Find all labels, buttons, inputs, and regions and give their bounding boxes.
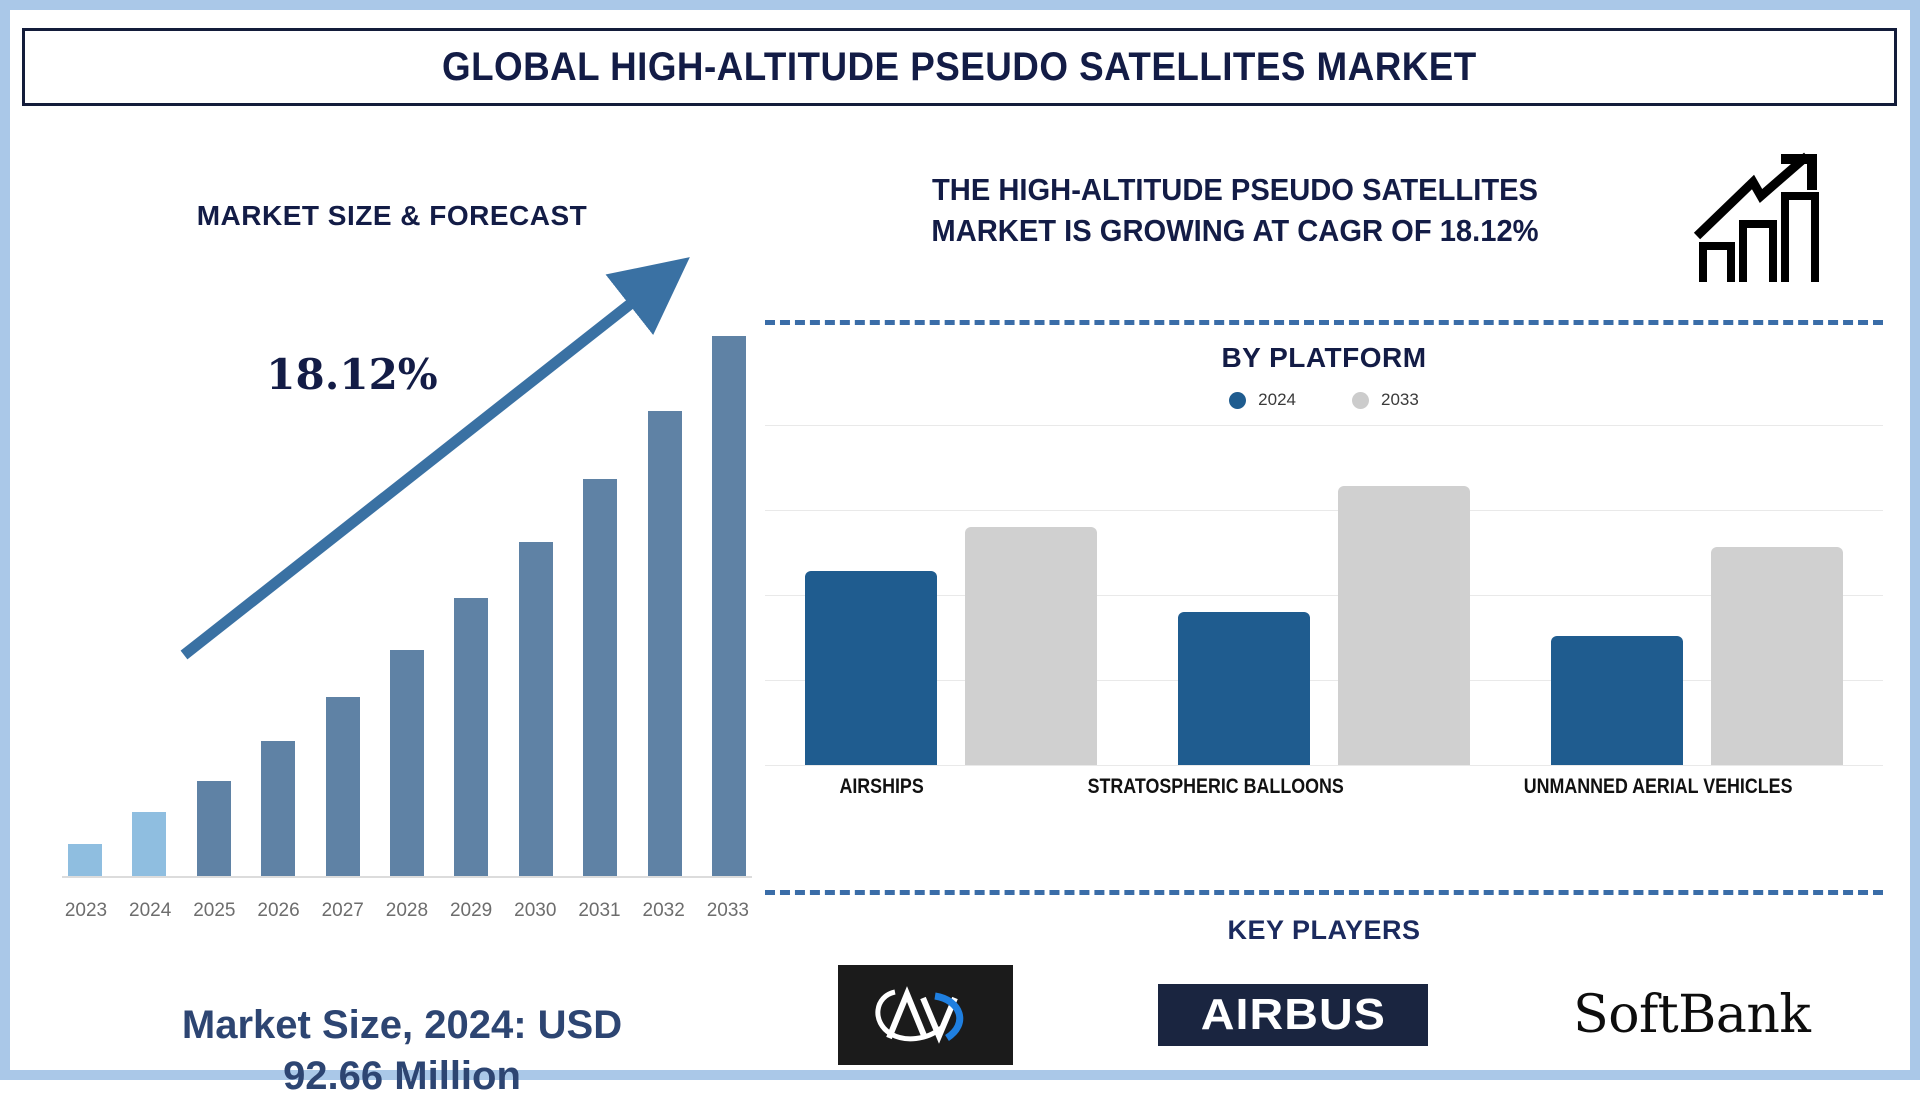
right-panel: THE HIGH-ALTITUDE PSEUDO SATELLITES MARK… bbox=[755, 120, 1915, 1070]
market-size-line-1: Market Size, 2024: USD bbox=[42, 1000, 762, 1051]
platform-category-label: AIRSHIPS bbox=[839, 775, 923, 799]
left-year-label: 2026 bbox=[257, 900, 301, 922]
platform-category-label: STRATOSPHERIC BALLOONS bbox=[1087, 775, 1343, 799]
platform-bar-2033 bbox=[965, 527, 1097, 765]
left-bars-container bbox=[62, 336, 752, 876]
platform-bar-group bbox=[1551, 425, 1843, 765]
legend-item-2024: 2024 bbox=[1229, 390, 1296, 410]
platform-category-labels: AIRSHIPSSTRATOSPHERIC BALLOONSUNMANNED A… bbox=[765, 775, 1883, 799]
logo-softbank: SoftBank bbox=[1573, 985, 1810, 1045]
left-year-label: 2029 bbox=[449, 900, 493, 922]
legend-label-2033: 2033 bbox=[1381, 390, 1419, 410]
platform-bar-2033 bbox=[1711, 547, 1843, 765]
left-bar bbox=[68, 844, 102, 876]
left-year-label: 2025 bbox=[192, 900, 236, 922]
gridline bbox=[765, 765, 1883, 766]
left-year-label: 2024 bbox=[128, 900, 172, 922]
platform-bar-group bbox=[1178, 425, 1470, 765]
left-bar bbox=[454, 598, 488, 876]
left-year-label: 2023 bbox=[64, 900, 108, 922]
by-platform-bar-chart bbox=[765, 425, 1883, 765]
left-bar bbox=[583, 479, 617, 876]
legend-item-2033: 2033 bbox=[1352, 390, 1419, 410]
left-year-label: 2032 bbox=[642, 900, 686, 922]
legend-dot-2024 bbox=[1229, 392, 1246, 409]
left-bar bbox=[132, 812, 166, 876]
left-year-label: 2028 bbox=[385, 900, 429, 922]
left-bar bbox=[712, 336, 746, 876]
left-year-label: 2031 bbox=[578, 900, 622, 922]
divider-top bbox=[765, 320, 1883, 325]
left-bar bbox=[197, 781, 231, 876]
title-banner: GLOBAL HIGH-ALTITUDE PSEUDO SATELLITES M… bbox=[22, 28, 1897, 106]
platform-category-label: UNMANNED AERIAL VEHICLES bbox=[1524, 775, 1793, 799]
market-size-line-2: 92.66 Million bbox=[42, 1051, 762, 1102]
cagr-headline-line-1: THE HIGH-ALTITUDE PSEUDO SATELLITES bbox=[793, 170, 1677, 211]
bar-chart-growth-icon bbox=[1685, 140, 1835, 290]
platform-bar-2024 bbox=[805, 571, 937, 765]
platform-bar-2033 bbox=[1338, 486, 1470, 765]
left-year-label: 2030 bbox=[513, 900, 557, 922]
market-size-forecast-panel: MARKET SIZE & FORECAST 18.12% 2023202420… bbox=[22, 120, 767, 1060]
platform-bar-2024 bbox=[1178, 612, 1310, 765]
key-players-logos: AIRBUS SoftBank bbox=[765, 960, 1883, 1070]
platform-bar-2024 bbox=[1551, 636, 1683, 765]
market-size-caption: Market Size, 2024: USD 92.66 Million bbox=[42, 1000, 762, 1102]
cagr-headline-line-2: MARKET IS GROWING AT CAGR OF 18.12% bbox=[793, 211, 1677, 252]
divider-bottom bbox=[765, 890, 1883, 895]
page-title: GLOBAL HIGH-ALTITUDE PSEUDO SATELLITES M… bbox=[442, 45, 1477, 90]
left-year-label: 2027 bbox=[321, 900, 365, 922]
logo-av bbox=[838, 965, 1013, 1065]
infographic-page: GLOBAL HIGH-ALTITUDE PSEUDO SATELLITES M… bbox=[0, 0, 1920, 1080]
av-logo-icon bbox=[865, 980, 985, 1050]
by-platform-heading: BY PLATFORM bbox=[765, 342, 1883, 374]
platform-bar-groups bbox=[765, 425, 1883, 765]
left-year-labels: 2023202420252026202720282029203020312032… bbox=[62, 900, 752, 922]
key-players-heading: KEY PLAYERS bbox=[765, 915, 1883, 946]
legend-label-2024: 2024 bbox=[1258, 390, 1296, 410]
platform-legend: 2024 2033 bbox=[765, 390, 1883, 410]
left-bar bbox=[519, 542, 553, 876]
left-year-label: 2033 bbox=[706, 900, 750, 922]
left-bar bbox=[390, 650, 424, 876]
cagr-headline: THE HIGH-ALTITUDE PSEUDO SATELLITES MARK… bbox=[793, 170, 1677, 252]
legend-dot-2033 bbox=[1352, 392, 1369, 409]
platform-bar-group bbox=[805, 425, 1097, 765]
left-axis-line bbox=[62, 876, 752, 878]
left-bar bbox=[326, 697, 360, 876]
logo-airbus: AIRBUS bbox=[1158, 984, 1428, 1046]
left-section-heading: MARKET SIZE & FORECAST bbox=[132, 200, 652, 232]
left-bar bbox=[261, 741, 295, 876]
airbus-wordmark: AIRBUS bbox=[1200, 990, 1385, 1040]
left-bar bbox=[648, 411, 682, 876]
market-size-bar-chart: 2023202420252026202720282029203020312032… bbox=[52, 300, 752, 980]
